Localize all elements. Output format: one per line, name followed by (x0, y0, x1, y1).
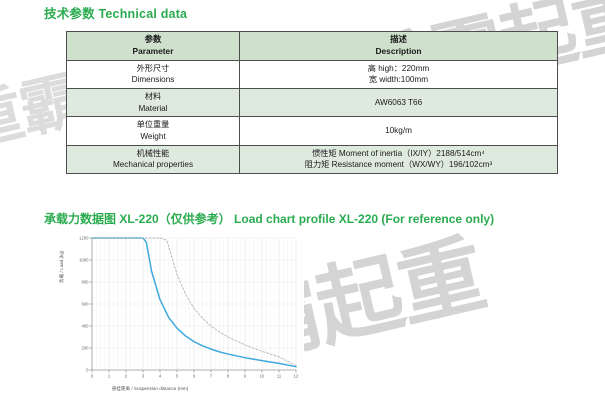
load-chart-title: 承载力数据图 XL-220（仅供参考） Load chart profile X… (44, 210, 494, 227)
parameter-en: Mechanical properties (69, 159, 237, 171)
header-parameter-cn: 参数 (69, 34, 237, 46)
technical-data-title-en: Technical data (99, 7, 188, 21)
svg-text:400: 400 (82, 324, 90, 329)
cell-parameter: 材料 Material (67, 89, 240, 117)
svg-text:1200: 1200 (79, 236, 89, 241)
table-row: 机械性能 Mechanical properties 惯性矩 Moment of… (67, 145, 558, 173)
cell-parameter: 单位重量 Weight (67, 117, 240, 145)
load-chart-title-cn: 承载力数据图 XL-220（仅供参考） (44, 212, 231, 226)
load-chart-title-en: Load chart profile XL-220 (For reference… (234, 212, 494, 226)
svg-text:1000: 1000 (79, 258, 89, 263)
chart-y-axis-label: 负载 / Load (kg) (59, 251, 65, 283)
table-row: 外形尺寸 Dimensions 高 high：220mm 宽 width:100… (67, 60, 558, 88)
cell-description: 高 high：220mm 宽 width:100mm (240, 60, 558, 88)
table-row: 材料 Material AW6063 T66 (67, 89, 558, 117)
cell-parameter: 机械性能 Mechanical properties (67, 145, 240, 173)
header-cell-parameter: 参数 Parameter (67, 32, 240, 61)
technical-data-table: 参数 Parameter 描述 Description 外形尺寸 Dimensi… (66, 31, 558, 174)
parameter-en: Material (69, 103, 237, 115)
svg-text:10: 10 (260, 374, 265, 379)
svg-text:600: 600 (82, 302, 90, 307)
load-chart-svg: 020040060080010001200 0123456789101112 (62, 232, 304, 394)
cell-description: AW6063 T66 (240, 89, 558, 117)
description-line-1: 高 high：220mm (242, 63, 555, 75)
description-line-1: 10kg/m (242, 125, 555, 137)
table-header-row: 参数 Parameter 描述 Description (67, 32, 558, 61)
parameter-cn: 机械性能 (69, 148, 237, 160)
parameter-cn: 材料 (69, 91, 237, 103)
header-parameter-en: Parameter (69, 46, 237, 58)
description-line-2: 阻力矩 Resistance moment（WX/WY）196/102cm³ (242, 159, 555, 171)
load-chart: 020040060080010001200 0123456789101112 (62, 232, 304, 394)
svg-text:12: 12 (294, 374, 299, 379)
table-row: 单位重量 Weight 10kg/m (67, 117, 558, 145)
page-root: 重霸起重 重霸起重 重霸起重 技术参数 Technical data 参数 Pa… (0, 0, 605, 403)
header-cell-description: 描述 Description (240, 32, 558, 61)
svg-text:11: 11 (277, 374, 282, 379)
description-line-1: AW6063 T66 (242, 97, 555, 109)
technical-data-title: 技术参数 Technical data (44, 3, 187, 22)
technical-data-table-wrapper: 参数 Parameter 描述 Description 外形尺寸 Dimensi… (66, 31, 548, 174)
parameter-en: Weight (69, 131, 237, 143)
cell-description: 10kg/m (240, 117, 558, 145)
chart-x-axis-label: 悬挂距离 / Suspension distance (mm) (112, 386, 189, 392)
svg-text:200: 200 (82, 346, 90, 351)
description-line-1: 惯性矩 Moment of inertia（IX/IY）2188/514cm⁴ (242, 148, 555, 160)
description-line-2: 宽 width:100mm (242, 74, 555, 86)
parameter-cn: 外形尺寸 (69, 63, 237, 75)
technical-data-title-cn: 技术参数 (44, 7, 95, 21)
header-description-cn: 描述 (242, 34, 555, 46)
parameter-cn: 单位重量 (69, 119, 237, 131)
svg-text:800: 800 (82, 280, 90, 285)
cell-description: 惯性矩 Moment of inertia（IX/IY）2188/514cm⁴ … (240, 145, 558, 173)
parameter-en: Dimensions (69, 74, 237, 86)
header-description-en: Description (242, 46, 555, 58)
cell-parameter: 外形尺寸 Dimensions (67, 60, 240, 88)
